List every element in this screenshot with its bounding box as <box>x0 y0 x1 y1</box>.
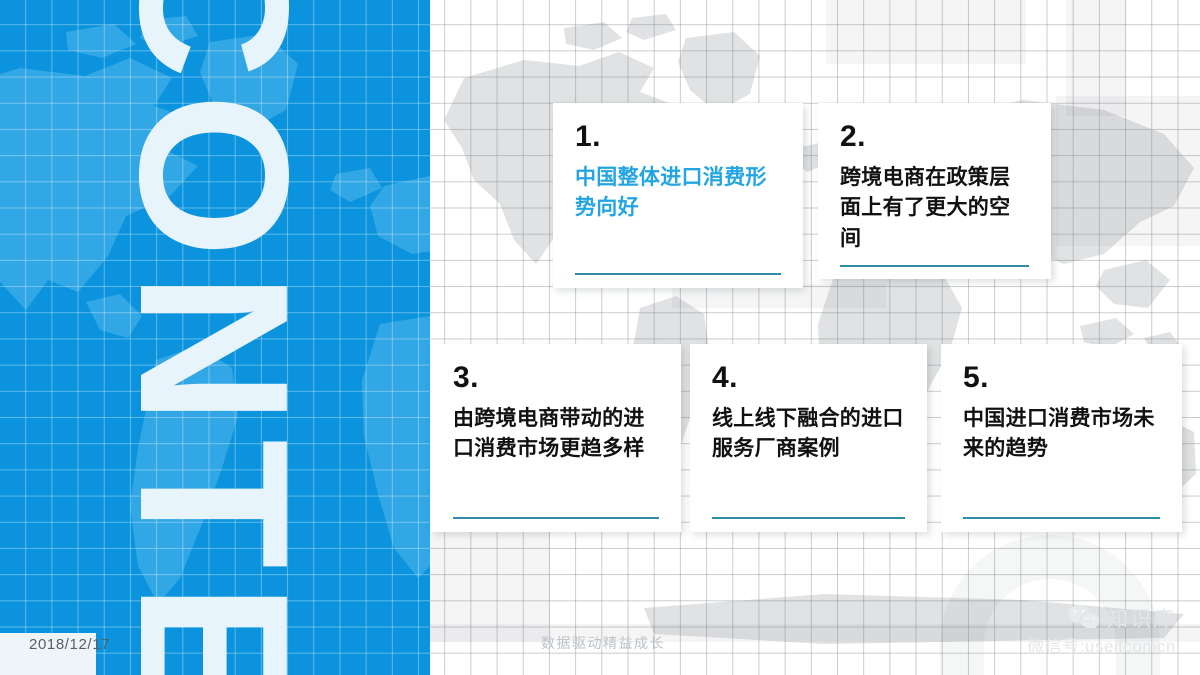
card-underline <box>575 273 781 275</box>
watermark-account: 微信号:useitcomcn <box>1027 632 1176 657</box>
agenda-card-3[interactable]: 3. 由跨境电商带动的进口消费市场更趋多样 <box>431 344 681 532</box>
watermark-brand: 知识库 <box>1107 603 1176 633</box>
wechat-watermark: 知识库 微信号:useitcomcn <box>1027 605 1176 657</box>
card-title: 中国整体进口消费形势向好 <box>575 163 783 224</box>
agenda-card-1[interactable]: 1. 中国整体进口消费形势向好 <box>553 103 803 288</box>
card-title: 跨境电商在政策层面上有了更大的空间 <box>840 163 1031 255</box>
card-underline <box>963 517 1160 519</box>
section-word: CONTENT <box>108 0 320 675</box>
decorative-block-top <box>826 0 1026 64</box>
card-title: 线上线下融合的进口服务厂商案例 <box>712 404 907 465</box>
card-underline <box>453 517 659 519</box>
card-number: 5. <box>963 362 1162 394</box>
agenda-card-5[interactable]: 5. 中国进口消费市场未来的趋势 <box>941 344 1182 532</box>
card-number: 1. <box>575 121 783 153</box>
presentation-slide: CONTENT 1. 中国整体进口消费形势向好 2. 跨境电商在政策层面上有了更… <box>0 0 1200 675</box>
card-underline <box>840 265 1029 267</box>
card-title: 中国进口消费市场未来的趋势 <box>963 404 1162 465</box>
decorative-block-right <box>1056 96 1200 246</box>
card-number: 2. <box>840 121 1031 153</box>
footer-slogan: 数据驱动精益成长 <box>541 633 665 653</box>
card-title: 由跨境电商带动的进口消费市场更趋多样 <box>453 404 661 465</box>
wechat-icon <box>1067 604 1101 633</box>
agenda-card-2[interactable]: 2. 跨境电商在政策层面上有了更大的空间 <box>818 103 1051 279</box>
card-number: 4. <box>712 362 907 394</box>
decorative-block-bottom-left <box>430 530 550 642</box>
left-title-panel: CONTENT <box>0 0 430 675</box>
card-underline <box>712 517 905 519</box>
agenda-card-4[interactable]: 4. 线上线下融合的进口服务厂商案例 <box>690 344 927 532</box>
date-stamp: 2018/12/17 <box>29 636 110 653</box>
card-number: 3. <box>453 362 661 394</box>
